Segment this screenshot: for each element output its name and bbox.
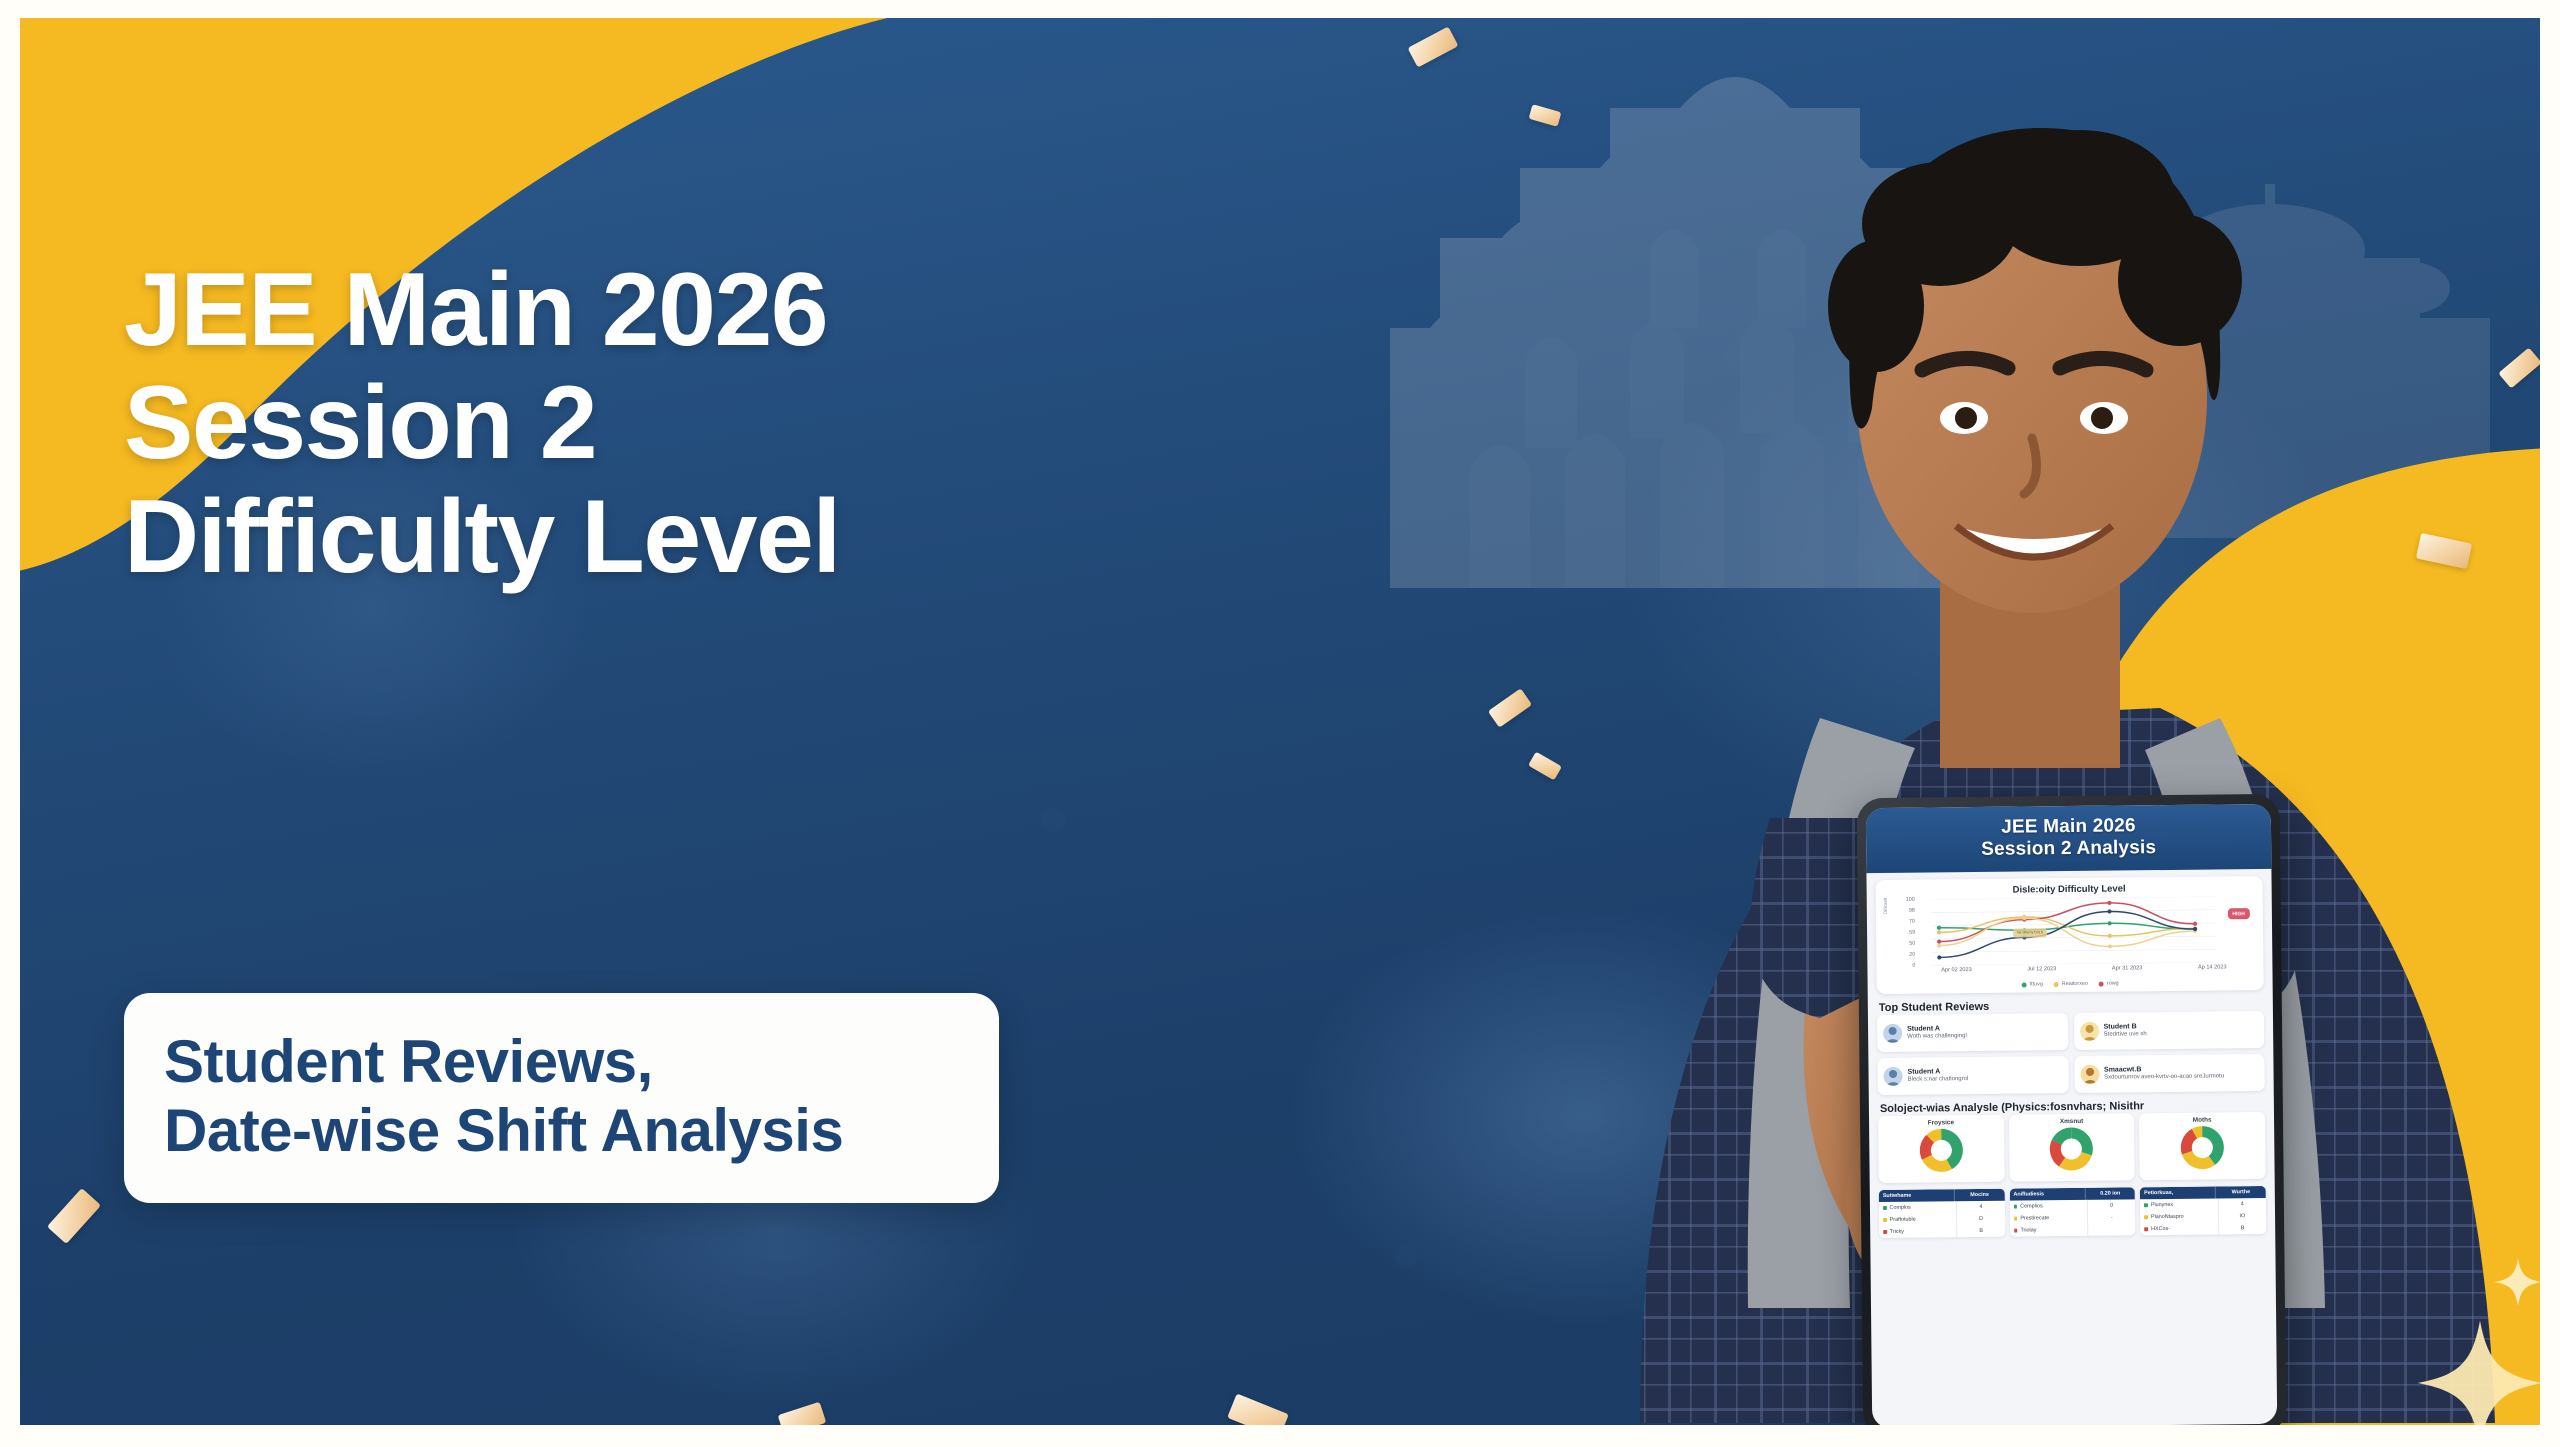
table-cell-label: Tricky xyxy=(1879,1225,1957,1238)
table-cell-value: D xyxy=(1957,1213,2004,1225)
table-header-cell: Sutiwhame xyxy=(1879,1189,1955,1202)
difficulty-line-chart-card[interactable]: Disle:oity Difficulty Level Dificaslr 10… xyxy=(1876,876,2264,994)
avatar xyxy=(2080,1065,2099,1084)
chart-x-axis-labels: Apr 02 2023Jul 12 2023Apr 31 2023Ap 14 2… xyxy=(1913,964,2254,974)
table-cell-label: Praftotuble xyxy=(1879,1213,1957,1226)
subject-table[interactable]: SutiwhameMocinsComplos4PraftotubleDTrick… xyxy=(1879,1189,2005,1238)
chart-data-point xyxy=(2108,921,2112,925)
tablet-device[interactable]: JEE Main 2026 Session 2 Analysis Disle:o… xyxy=(1857,794,2287,1425)
legend-label: Reaitorxeo xyxy=(2062,981,2088,987)
table-header-cell: Mocins xyxy=(1955,1189,2005,1202)
subtitle-line-2: Date-wise Shift Analysis xyxy=(164,1096,959,1165)
subtitle-line-1: Student Reviews, xyxy=(164,1027,959,1096)
donut-slice xyxy=(2072,1133,2088,1154)
chart-plot-area: Dificaslr 10098705950200 HIGH Ne Uterny … xyxy=(1883,894,2257,982)
legend-swatch xyxy=(1883,1206,1887,1210)
donut-slice xyxy=(2187,1153,2212,1164)
table-header-cell: 0.20 ion xyxy=(2085,1187,2135,1200)
chart-x-tick: Apr 31 2023 xyxy=(2112,965,2143,971)
review-card[interactable]: Student ABleck s:nar chatlongrol xyxy=(1877,1056,2068,1095)
avatar xyxy=(1883,1067,1902,1086)
chart-data-point xyxy=(2193,922,2197,926)
table-row: HXCos-B xyxy=(2140,1222,2266,1235)
poster-root: JEE Main 2026 Session 2 Difficulty Level… xyxy=(0,0,2560,1447)
legend-label: rowg xyxy=(2107,981,2119,987)
review-card[interactable]: Student AWoth was challenging! xyxy=(1877,1013,2068,1052)
legend-swatch xyxy=(2144,1203,2148,1207)
review-card[interactable]: Smaacwt.BSxdourtunrov.aveo-kvrtv-oo-acao… xyxy=(2074,1054,2265,1093)
donut-chart xyxy=(1919,1128,1963,1172)
review-text: Sxdourtunrov.aveo-kvrtv-oo-acao sreJurmo… xyxy=(2104,1073,2224,1082)
donut-chart xyxy=(2050,1127,2094,1171)
legend-swatch xyxy=(1883,1218,1887,1222)
chart-data-point xyxy=(2108,944,2112,948)
headline-line-2: Session 2 xyxy=(124,367,1184,480)
donut-slice xyxy=(2186,1134,2194,1153)
tablet-screen[interactable]: JEE Main 2026 Session 2 Analysis Disle:o… xyxy=(1866,804,2277,1425)
review-card[interactable]: Student BStedrtive uve sh xyxy=(2073,1011,2264,1050)
avatar xyxy=(2080,1022,2099,1041)
headline: JEE Main 2026 Session 2 Difficulty Level xyxy=(124,254,1184,594)
donut-slice xyxy=(1930,1134,1941,1138)
chart-x-tick: Apr 02 2023 xyxy=(1941,967,1972,973)
table-header-cell: Wurthe xyxy=(2216,1186,2266,1199)
legend-swatch xyxy=(1883,1230,1887,1234)
tablet-header-line-2: Session 2 Analysis xyxy=(1872,836,2265,862)
table-cell-label: Triolay xyxy=(2010,1224,2088,1237)
table-cell-label: Plunynex xyxy=(2140,1199,2218,1212)
donut-slice xyxy=(2195,1132,2203,1134)
donut-slice xyxy=(1941,1134,1957,1164)
subject-tables-grid: SutiwhameMocinsComplos4PraftotubleDTrick… xyxy=(1879,1186,2266,1238)
chart-y-axis-label: Dificaslr xyxy=(1883,898,1888,914)
subject-table[interactable]: Petiorkuas,WurthePlunynex4PlanoNtasproIO… xyxy=(2140,1186,2266,1235)
chart-data-point xyxy=(1937,930,1941,934)
legend-swatch xyxy=(2014,1217,2018,1221)
chart-y-tick: 20 xyxy=(1909,952,1915,958)
legend-color-dot xyxy=(2099,981,2104,986)
subjects-section: Soloject-wias Analysle (Physics:fosnvhar… xyxy=(1878,1098,2266,1183)
subject-donut-card[interactable]: Froysice xyxy=(1878,1115,2004,1183)
headline-line-3: Difficulty Level xyxy=(124,481,1184,594)
subject-name: Froysice xyxy=(1881,1119,2001,1127)
chart-y-axis-ticks: 10098705950200 xyxy=(1893,900,1916,966)
chart-y-tick: 100 xyxy=(1906,897,1915,903)
table-cell-value: IO xyxy=(2219,1210,2266,1222)
donut-slice xyxy=(2202,1132,2218,1161)
table-cell-label: PlanoNtaspro xyxy=(2140,1211,2218,1224)
legend-color-dot xyxy=(2022,982,2027,987)
donut-chart xyxy=(2180,1125,2224,1169)
review-text: Stedrtive uve sh xyxy=(2104,1031,2147,1039)
table-cell-value: 0 xyxy=(2088,1199,2135,1211)
table-cell-label: Cemplios xyxy=(2010,1200,2088,1213)
sparkle-small-icon xyxy=(2492,1256,2540,1308)
subject-donut-card[interactable]: Moths xyxy=(2139,1112,2265,1180)
chart-data-point xyxy=(2107,909,2111,913)
subtitle-card: Student Reviews, Date-wise Shift Analysi… xyxy=(124,993,999,1203)
tablet-header: JEE Main 2026 Session 2 Analysis xyxy=(1866,804,2272,873)
table-cell-value: - xyxy=(2088,1211,2135,1223)
table-cell-value: B xyxy=(1957,1225,2004,1237)
table-cell-value xyxy=(2088,1226,2135,1232)
legend-label: Ittuvg xyxy=(2030,981,2043,987)
chart-y-tick: 70 xyxy=(1909,919,1915,925)
tablet-body: Disle:oity Difficulty Level Dificaslr 10… xyxy=(1866,869,2277,1425)
chart-data-point xyxy=(1937,944,1941,948)
table-cell-label: Prestirecate xyxy=(2010,1212,2088,1225)
donut-slice xyxy=(2062,1154,2087,1165)
chart-y-tick: 98 xyxy=(1909,908,1915,914)
table-header-cell: Petiorkuas, xyxy=(2140,1187,2216,1200)
poster-canvas: JEE Main 2026 Session 2 Difficulty Level… xyxy=(20,18,2540,1425)
review-text: Bleck s:nar chatlongrol xyxy=(1908,1076,1969,1084)
reviews-grid: Student AWoth was challenging!Student BS… xyxy=(1877,1011,2265,1095)
chart-data-point xyxy=(1937,940,1941,944)
headline-line-1: JEE Main 2026 xyxy=(124,254,1184,367)
chart-legend-item[interactable]: Reaitorxeo xyxy=(2054,981,2088,987)
table-cell-label: HXCos- xyxy=(2140,1223,2218,1236)
subjects-grid: FroysiceXmsnutMoths xyxy=(1878,1112,2266,1183)
donut-slice xyxy=(1927,1157,1949,1166)
table-row: TrickyB xyxy=(1879,1225,2005,1238)
sparkle-icon xyxy=(2415,1318,2540,1425)
table-row: Prestirecate- xyxy=(2010,1211,2136,1224)
table-cell-value: B xyxy=(2219,1222,2266,1234)
chart-high-badge: HIGH xyxy=(2227,908,2250,919)
chart-data-point xyxy=(1937,926,1941,930)
donut-slice xyxy=(2056,1142,2063,1162)
chart-tooltip: Ne Uterny Dot.0 xyxy=(2013,928,2047,937)
subject-table[interactable]: Anifludiesis0.20 ionCemplios0Prestirecat… xyxy=(2009,1187,2135,1236)
subject-name: Moths xyxy=(2142,1116,2262,1124)
table-header-cell: Anifludiesis xyxy=(2009,1188,2085,1201)
chart-legend-item[interactable]: rowg xyxy=(2099,981,2119,987)
chart-x-tick: Jul 12 2023 xyxy=(2027,966,2056,972)
chart-data-point xyxy=(2107,901,2111,905)
avatar xyxy=(1883,1024,1902,1043)
table-row: Triolay xyxy=(2010,1223,2136,1236)
legend-color-dot xyxy=(2054,982,2059,987)
reviews-section: Top Student Reviews Student AWoth was ch… xyxy=(1877,997,2265,1095)
legend-swatch xyxy=(2144,1215,2148,1219)
donut-slice xyxy=(1925,1139,1930,1158)
chart-y-tick: 59 xyxy=(1909,930,1915,936)
table-cell-value: 4 xyxy=(1957,1201,2004,1213)
legend-swatch xyxy=(2014,1205,2018,1209)
chart-y-tick: 50 xyxy=(1909,941,1915,947)
chart-lines xyxy=(1917,897,2218,966)
subject-name: Xmsnut xyxy=(2012,1117,2132,1125)
chart-legend-item[interactable]: Ittuvg xyxy=(2022,981,2043,987)
legend-swatch xyxy=(2014,1229,2018,1233)
donut-slice xyxy=(2057,1133,2072,1142)
subject-donut-card[interactable]: Xmsnut xyxy=(2009,1113,2135,1181)
table-cell-label: Complos xyxy=(1879,1201,1957,1214)
legend-swatch xyxy=(2144,1227,2148,1231)
chart-x-tick: Ap 14 2023 xyxy=(2198,964,2227,970)
table-cell-value: 4 xyxy=(2219,1198,2266,1210)
review-text: Woth was challenging! xyxy=(1907,1033,1967,1041)
chart-data-point xyxy=(1937,955,1941,959)
